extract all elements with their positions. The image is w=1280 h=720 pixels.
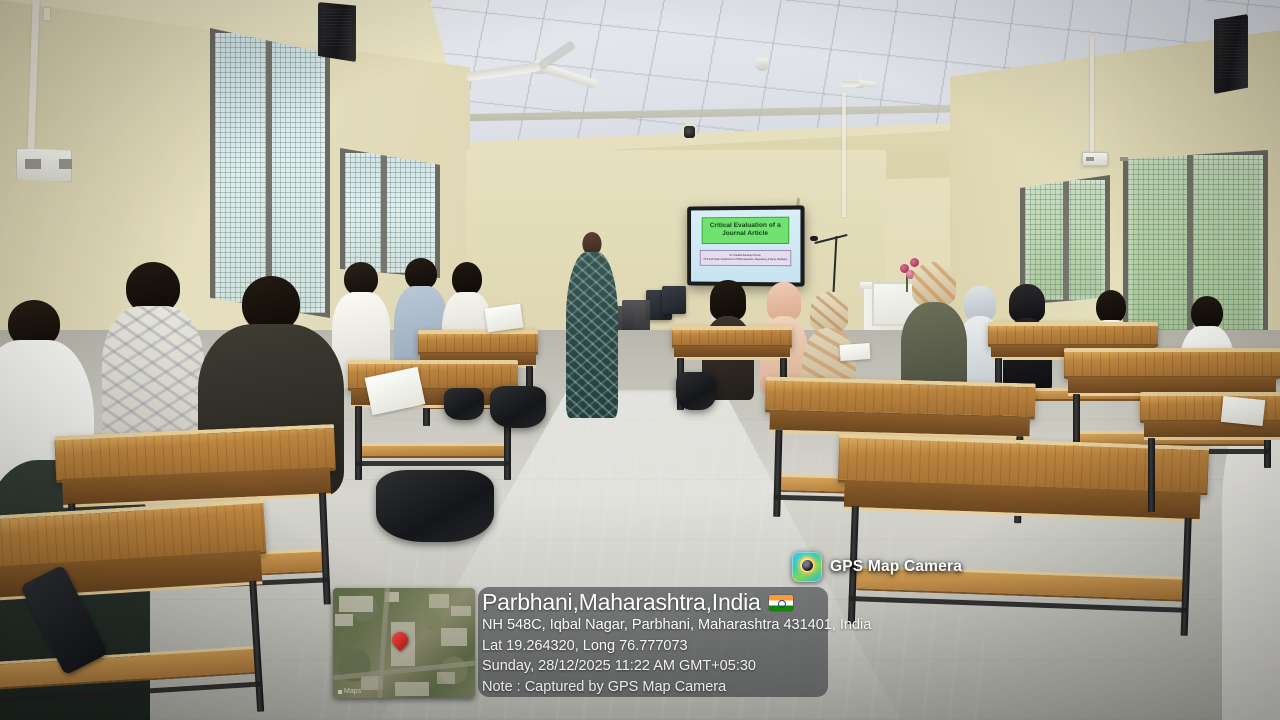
window-mullion bbox=[266, 33, 272, 313]
gps-address: NH 548C, Iqbal Nagar, Parbhani, Maharash… bbox=[482, 615, 902, 636]
paper-sheet-4 bbox=[839, 343, 870, 361]
presenter-saree bbox=[566, 252, 618, 418]
computer-monitor-2 bbox=[662, 286, 686, 314]
desk-top bbox=[1064, 348, 1280, 379]
slide-affiliation: Prof and Head, Department of Pharmaceuti… bbox=[703, 258, 789, 262]
electrical-socket-left[interactable] bbox=[16, 148, 72, 182]
wall-conduit bbox=[44, 8, 50, 20]
desk-front-panel bbox=[674, 346, 789, 359]
gps-note: Note : Captured by GPS Map Camera bbox=[482, 677, 902, 698]
cctv-camera-wall-icon bbox=[684, 126, 695, 138]
wall-display-screen[interactable]: Critical Evaluation of a Journal Article… bbox=[687, 205, 804, 286]
slide-title: Critical Evaluation of a Journal Article bbox=[702, 217, 790, 244]
backpack-4 bbox=[444, 388, 484, 420]
gps-place-name: Parbhani,Maharashtra,India bbox=[482, 590, 761, 615]
logo-lens-shape bbox=[802, 560, 813, 571]
desk-leg bbox=[773, 430, 782, 517]
student-hijab-head bbox=[767, 282, 801, 320]
desk-top bbox=[988, 322, 1158, 347]
desk-bench bbox=[358, 443, 511, 459]
wall-conduit bbox=[842, 92, 846, 217]
wall-speaker-left-icon bbox=[318, 2, 356, 62]
paper-sheet-2 bbox=[485, 304, 524, 333]
gps-app-name: GPS Map Camera bbox=[830, 558, 962, 576]
fan-blade bbox=[842, 81, 861, 87]
gps-app-badge: GPS Map Camera bbox=[792, 552, 962, 582]
wall-speaker-right-icon bbox=[1214, 14, 1248, 94]
map-watermark: Maps bbox=[338, 688, 361, 695]
window-mullion bbox=[1063, 180, 1069, 300]
desk-leg bbox=[1148, 438, 1155, 512]
student-head bbox=[1096, 290, 1126, 324]
desk-top bbox=[418, 330, 538, 355]
gps-map-camera-photo: Critical Evaluation of a Journal Article… bbox=[0, 0, 1280, 720]
desk-leg bbox=[319, 493, 331, 605]
microphone-head-icon bbox=[810, 236, 818, 241]
backpack-3 bbox=[676, 372, 716, 410]
gps-map-thumbnail[interactable]: Maps bbox=[333, 588, 475, 698]
gps-timestamp: Sunday, 28/12/2025 11:22 AM GMT+05:30 bbox=[482, 656, 902, 677]
electrical-socket-right[interactable] bbox=[1082, 152, 1108, 166]
student-head bbox=[710, 280, 746, 320]
gps-coordinates: Lat 19.264320, Long 76.777073 bbox=[482, 636, 902, 657]
student-head bbox=[1191, 296, 1223, 330]
desk-rail bbox=[355, 461, 511, 466]
slide-subtitle-block: Dr. Kranika Sandeep Purnia Prof and Head… bbox=[700, 250, 792, 266]
india-flag-icon bbox=[769, 595, 793, 611]
wall-conduit bbox=[1090, 36, 1094, 154]
presentation-slide: Critical Evaluation of a Journal Article… bbox=[691, 210, 800, 283]
student-head bbox=[344, 262, 378, 296]
desk-leg bbox=[355, 406, 362, 480]
gps-camera-logo-icon bbox=[792, 552, 822, 582]
student-hijab-head bbox=[912, 262, 956, 306]
paper-sheet-3 bbox=[1221, 396, 1265, 426]
student-hijab-head bbox=[810, 292, 848, 332]
desk-leg bbox=[1181, 518, 1192, 636]
presenter bbox=[560, 232, 624, 418]
gps-place-row: Parbhani,Maharashtra,India bbox=[482, 590, 902, 615]
student-left-2 bbox=[100, 262, 206, 452]
student-hijab-head bbox=[1009, 284, 1045, 322]
backpack-2 bbox=[490, 386, 546, 428]
desk-top bbox=[672, 326, 792, 348]
student-head bbox=[452, 262, 482, 296]
window-left-large bbox=[210, 28, 330, 318]
student-hijab-body bbox=[901, 302, 967, 392]
window-mullion bbox=[381, 153, 387, 273]
gps-info-text: Parbhani,Maharashtra,India NH 548C, Iqba… bbox=[482, 590, 902, 698]
student-right-8 bbox=[898, 262, 970, 388]
backpack-1 bbox=[376, 470, 494, 542]
window-mesh bbox=[345, 153, 435, 273]
